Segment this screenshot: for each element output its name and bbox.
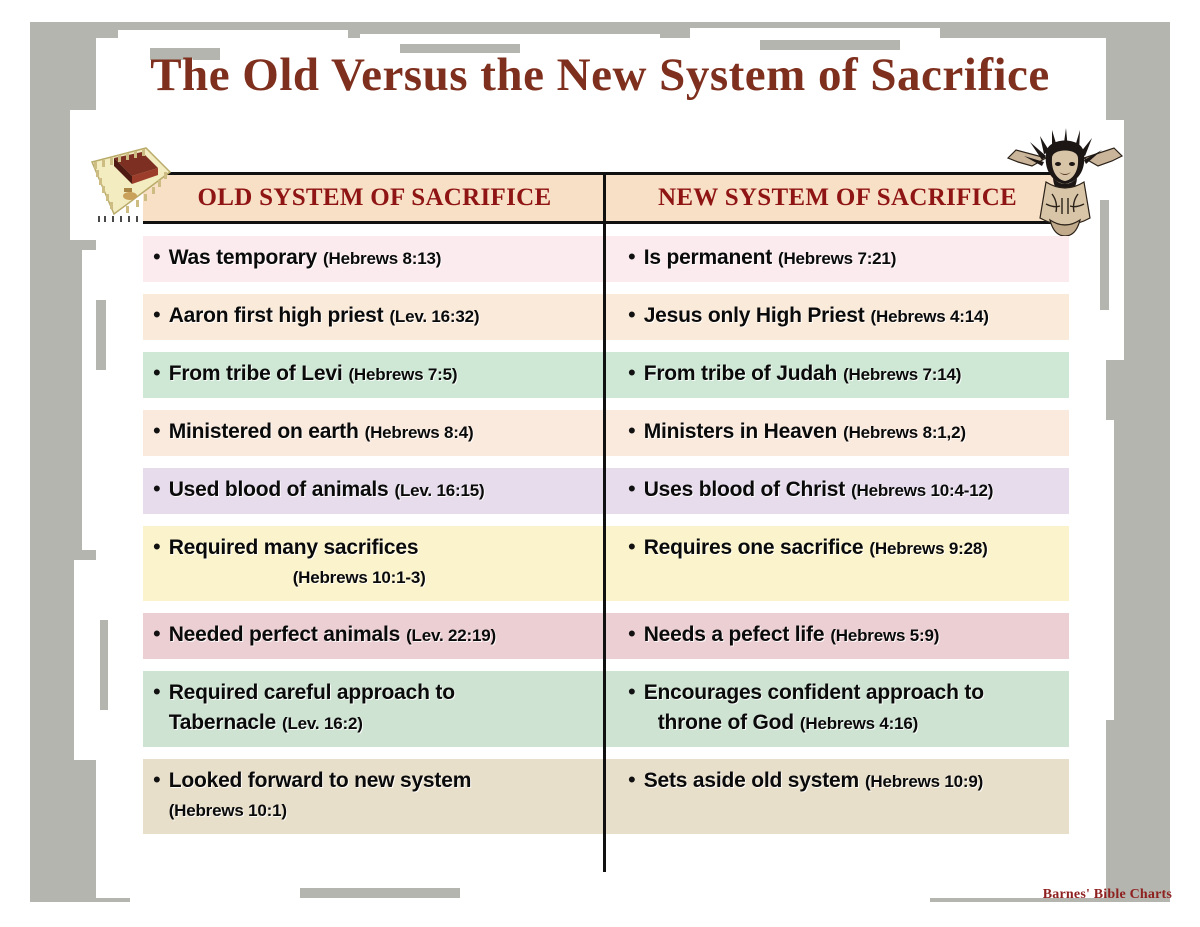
- cell-text: Required many sacrifices(Hebrews 10:1-3): [169, 533, 590, 593]
- cell-old: • Needed perfect animals(Lev. 22:19): [143, 613, 606, 659]
- table-row: • Was temporary(Hebrews 8:13) • Is perma…: [143, 236, 1069, 282]
- bullet-icon: •: [628, 243, 636, 270]
- crucifixion-icon: [1006, 128, 1124, 236]
- table-row: • Looked forward to new system(Hebrews 1…: [143, 759, 1069, 834]
- cell-text: Sets aside old system(Hebrews 10:9): [644, 766, 1065, 797]
- page-title: The Old Versus the New System of Sacrifi…: [0, 48, 1200, 102]
- table-row: • Ministered on earth(Hebrews 8:4) • Min…: [143, 410, 1069, 456]
- tear-grey-flake-e: [100, 620, 108, 710]
- bullet-icon: •: [628, 678, 636, 705]
- scripture-ref: (Hebrews 8:13): [323, 249, 441, 268]
- comparison-table: OLD SYSTEM OF SACRIFICE NEW SYSTEM OF SA…: [143, 172, 1069, 834]
- bullet-icon: •: [628, 533, 636, 560]
- tabernacle-icon: [84, 142, 172, 222]
- table-header-row: OLD SYSTEM OF SACRIFICE NEW SYSTEM OF SA…: [143, 172, 1069, 224]
- scripture-ref: (Hebrews 10:9): [865, 772, 983, 791]
- scripture-ref: (Hebrews 8:4): [365, 423, 474, 442]
- scripture-ref: (Lev. 16:32): [389, 307, 479, 326]
- attribution-footer: Barnes' Bible Charts: [1043, 887, 1172, 903]
- cell-new: • Sets aside old system(Hebrews 10:9): [606, 759, 1069, 834]
- scripture-ref: (Hebrews 5:9): [830, 626, 939, 645]
- cell-new: • Ministers in Heaven(Hebrews 8:1,2): [606, 410, 1069, 456]
- cell-text: From tribe of Judah(Hebrews 7:14): [644, 359, 1065, 390]
- bullet-icon: •: [153, 417, 161, 444]
- scripture-ref: (Hebrews 7:14): [843, 365, 961, 384]
- scripture-ref: (Hebrews 10:1-3): [293, 563, 590, 593]
- bullet-icon: •: [153, 301, 161, 328]
- table-row: • Required many sacrifices(Hebrews 10:1-…: [143, 526, 1069, 601]
- scripture-ref: (Lev. 22:19): [406, 626, 496, 645]
- cell-text: Ministered on earth(Hebrews 8:4): [169, 417, 590, 448]
- scripture-ref: (Hebrews 10:4-12): [851, 481, 993, 500]
- cell-old: • Looked forward to new system(Hebrews 1…: [143, 759, 606, 834]
- bullet-icon: •: [153, 766, 161, 793]
- cell-text: Aaron first high priest(Lev. 16:32): [169, 301, 590, 332]
- bullet-icon: •: [628, 475, 636, 502]
- cell-text: Uses blood of Christ(Hebrews 10:4-12): [644, 475, 1065, 506]
- cell-new: • Encourages confident approach tothrone…: [606, 671, 1069, 747]
- cell-text: Used blood of animals(Lev. 16:15): [169, 475, 590, 506]
- scripture-ref: (Hebrews 8:1,2): [843, 423, 966, 442]
- tear-edge-right-low: [1092, 420, 1114, 720]
- scripture-ref: (Hebrews 9:28): [869, 539, 987, 558]
- bullet-icon: •: [628, 766, 636, 793]
- bullet-icon: •: [153, 533, 161, 560]
- bullet-icon: •: [628, 359, 636, 386]
- cell-text: Encourages confident approach tothrone o…: [644, 678, 1065, 739]
- cell-old: • Required careful approach toTabernacle…: [143, 671, 606, 747]
- cell-old: • Used blood of animals(Lev. 16:15): [143, 468, 606, 514]
- cell-text: From tribe of Levi(Hebrews 7:5): [169, 359, 590, 390]
- cell-old: • Was temporary(Hebrews 8:13): [143, 236, 606, 282]
- cell-text: Needed perfect animals(Lev. 22:19): [169, 620, 590, 651]
- tear-edge-bottom: [130, 880, 930, 906]
- cell-text: Looked forward to new system(Hebrews 10:…: [169, 766, 590, 826]
- bullet-icon: •: [153, 359, 161, 386]
- cell-old: • Aaron first high priest(Lev. 16:32): [143, 294, 606, 340]
- column-divider: [603, 172, 606, 872]
- scripture-ref: (Lev. 16:15): [395, 481, 485, 500]
- cell-text: Required careful approach toTabernacle(L…: [169, 678, 590, 739]
- cell-old: • Required many sacrifices(Hebrews 10:1-…: [143, 526, 606, 601]
- cell-new: • Is permanent(Hebrews 7:21): [606, 236, 1069, 282]
- table-row: • Aaron first high priest(Lev. 16:32) • …: [143, 294, 1069, 340]
- cell-new: • Needs a pefect life(Hebrews 5:9): [606, 613, 1069, 659]
- scripture-ref: (Lev. 16:2): [282, 714, 363, 733]
- cell-new: • Jesus only High Priest(Hebrews 4:14): [606, 294, 1069, 340]
- tear-edge-left-mid: [82, 250, 108, 550]
- cell-text: Is permanent(Hebrews 7:21): [644, 243, 1065, 274]
- cell-new: • Requires one sacrifice(Hebrews 9:28): [606, 526, 1069, 601]
- bullet-icon: •: [153, 475, 161, 502]
- cell-new: • From tribe of Judah(Hebrews 7:14): [606, 352, 1069, 398]
- cell-text: Jesus only High Priest(Hebrews 4:14): [644, 301, 1065, 332]
- cell-text: Requires one sacrifice(Hebrews 9:28): [644, 533, 1065, 564]
- table-row: • Needed perfect animals(Lev. 22:19) • N…: [143, 613, 1069, 659]
- bullet-icon: •: [153, 243, 161, 270]
- cell-new: • Uses blood of Christ(Hebrews 10:4-12): [606, 468, 1069, 514]
- table-row: • Required careful approach toTabernacle…: [143, 671, 1069, 747]
- cell-old: • From tribe of Levi(Hebrews 7:5): [143, 352, 606, 398]
- bullet-icon: •: [628, 417, 636, 444]
- bullet-icon: •: [628, 620, 636, 647]
- scripture-ref: (Hebrews 4:14): [871, 307, 989, 326]
- table-row: • From tribe of Levi(Hebrews 7:5) • From…: [143, 352, 1069, 398]
- cell-text: Needs a pefect life(Hebrews 5:9): [644, 620, 1065, 651]
- table-row: • Used blood of animals(Lev. 16:15) • Us…: [143, 468, 1069, 514]
- column-header-old: OLD SYSTEM OF SACRIFICE: [143, 175, 606, 221]
- scripture-ref: (Hebrews 10:1): [169, 796, 590, 826]
- scripture-ref: (Hebrews 4:16): [800, 714, 918, 733]
- cell-old: • Ministered on earth(Hebrews 8:4): [143, 410, 606, 456]
- tear-grey-flake-d: [96, 300, 106, 370]
- tear-grey-flake-g: [300, 888, 460, 898]
- cell-text: Ministers in Heaven(Hebrews 8:1,2): [644, 417, 1065, 448]
- bullet-icon: •: [153, 678, 161, 705]
- cell-text: Was temporary(Hebrews 8:13): [169, 243, 590, 274]
- scripture-ref: (Hebrews 7:21): [778, 249, 896, 268]
- bullet-icon: •: [153, 620, 161, 647]
- bullet-icon: •: [628, 301, 636, 328]
- column-header-new: NEW SYSTEM OF SACRIFICE: [606, 175, 1069, 221]
- chart-page: The Old Versus the New System of Sacrifi…: [0, 0, 1200, 927]
- scripture-ref: (Hebrews 7:5): [348, 365, 457, 384]
